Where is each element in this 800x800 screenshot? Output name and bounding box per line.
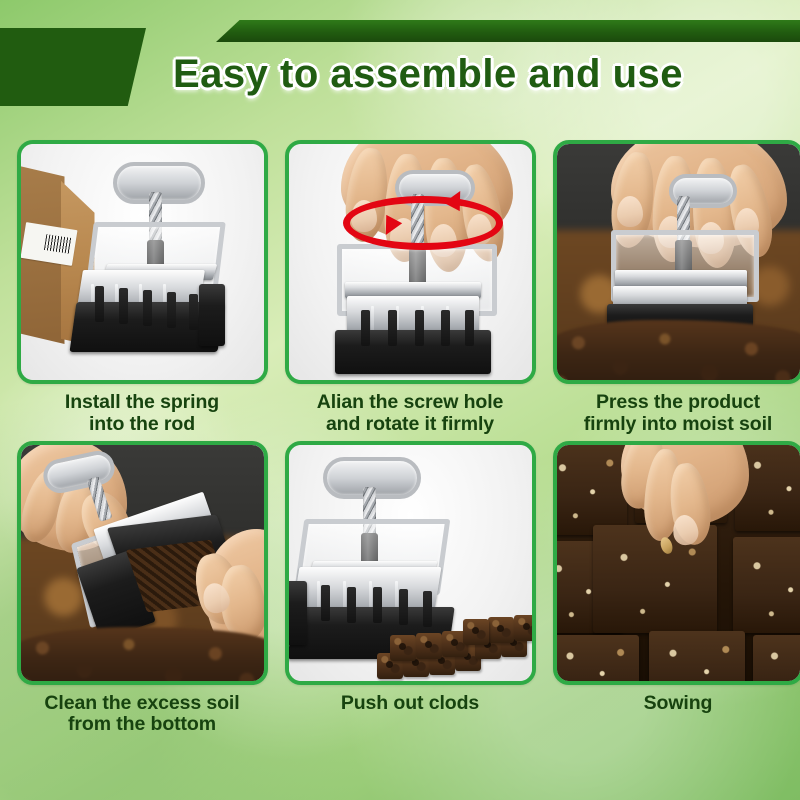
soil-clod (416, 633, 442, 659)
soil-brick (557, 635, 639, 681)
ejector-tine (361, 310, 370, 346)
rotate-arrow-icon (343, 196, 503, 250)
soil-foreground (557, 320, 800, 380)
soil-brick (649, 631, 745, 681)
fingernail (617, 196, 643, 227)
ejector-tine (373, 587, 382, 623)
caption-line-1: Sowing (549, 693, 800, 715)
soil-clod (488, 617, 514, 643)
caption-line-2: from the bottom (13, 714, 271, 736)
ejector-tine (465, 310, 474, 346)
ejector-tine (441, 310, 450, 346)
step-caption-3: Press the product firmly into moist soil (549, 392, 800, 436)
ejector-tine (143, 290, 152, 326)
step-image-3 (553, 140, 800, 384)
soil-foreground (21, 627, 264, 681)
caption-line-1: Press the product (549, 392, 800, 414)
caption-line-2: and rotate it firmly (281, 414, 539, 436)
soil-brick (557, 445, 627, 535)
step-caption-4: Clean the excess soil from the bottom (13, 693, 271, 737)
soil-clod (514, 615, 532, 641)
black-side-tab (199, 284, 225, 346)
page-title: Easy to assemble and use (0, 52, 800, 97)
scene-hand-pressing-into-soil (557, 144, 800, 380)
ejector-tine (167, 292, 176, 328)
caption-line-2: into the rod (13, 414, 271, 436)
step-image-4 (17, 441, 268, 685)
step-image-5 (285, 441, 536, 685)
soil-clod (463, 619, 489, 645)
scene-hand-sowing-seed (557, 445, 800, 681)
step-image-1 (17, 140, 268, 384)
infographic-canvas: Easy to assemble and use (0, 0, 800, 800)
soil-brick (733, 537, 800, 633)
step-card-4: Clean the excess soil from the bottom (13, 441, 271, 737)
ejector-tine (415, 310, 424, 346)
scene-product-with-shipping-box (21, 144, 264, 380)
steps-grid: Install the spring into the rod (13, 140, 787, 736)
ejector-tine (119, 288, 128, 324)
step-card-3: Press the product firmly into moist soil (549, 140, 800, 436)
caption-line-1: Clean the excess soil (13, 693, 271, 715)
header-bar-decoration (216, 20, 800, 42)
step-card-6: Sowing (549, 441, 800, 737)
caption-line-1: Install the spring (13, 392, 271, 414)
scene-hand-rotating-screw (289, 144, 532, 380)
ejector-tine (423, 591, 432, 627)
ejector-tine (189, 294, 198, 330)
ejector-tine (321, 585, 330, 621)
step-image-2 (285, 140, 536, 384)
step-caption-1: Install the spring into the rod (13, 392, 271, 436)
caption-line-1: Push out clods (281, 693, 539, 715)
ejector-tine (388, 310, 397, 346)
step-card-5: Push out clods (281, 441, 539, 737)
step-caption-2: Alian the screw hole and rotate it firml… (281, 392, 539, 436)
black-side-tab (289, 581, 307, 645)
soil-brick (753, 635, 800, 681)
step-caption-5: Push out clods (281, 693, 539, 715)
scene-hand-cleaning-bottom (21, 445, 264, 681)
scene-product-with-soil-blocks (289, 445, 532, 681)
step-card-2: Alian the screw hole and rotate it firml… (281, 140, 539, 436)
caption-line-1: Alian the screw hole (281, 392, 539, 414)
ejector-tine (399, 589, 408, 625)
ejector-tine (347, 587, 356, 623)
step-caption-6: Sowing (549, 693, 800, 715)
step-card-1: Install the spring into the rod (13, 140, 271, 436)
step-image-6 (553, 441, 800, 685)
soil-clod (390, 635, 416, 661)
caption-line-2: firmly into moist soil (549, 414, 800, 436)
ejector-tine (95, 286, 104, 322)
